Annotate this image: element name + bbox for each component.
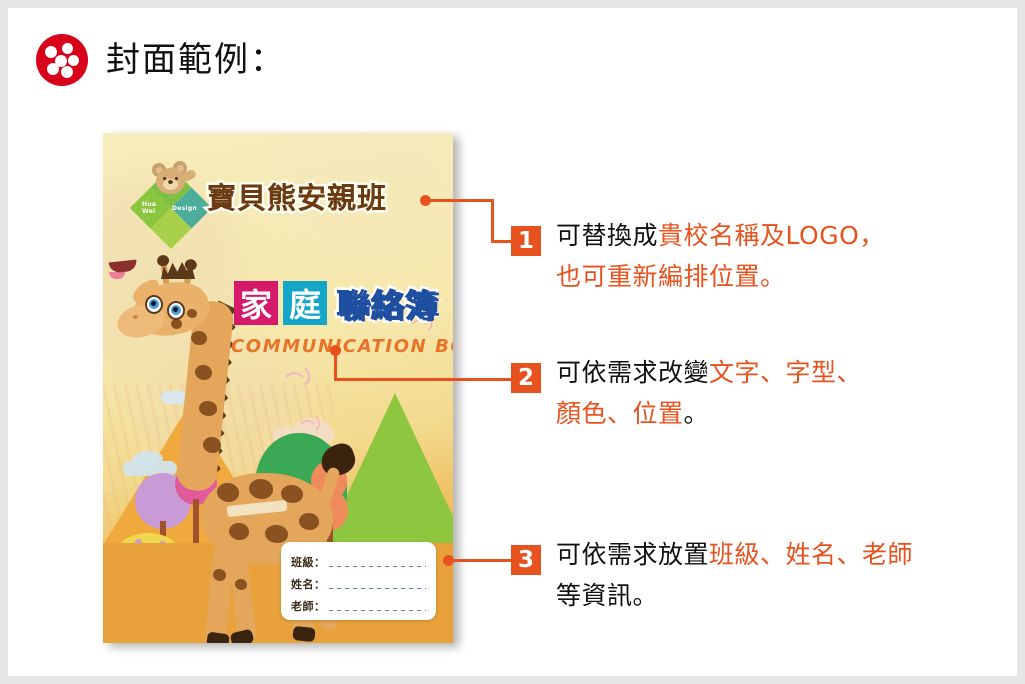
callout-3-line-1: 可依需求放置班級、姓名、老師 [556,534,913,575]
callout-number-1: 1 [511,226,541,256]
callout-2-line-2: 顏色、位置。 [556,393,862,434]
leader-line-2a [334,350,337,381]
leader-line-3 [449,559,516,562]
cover-subtitle: COMMUNICATION BOOK [231,336,453,357]
callout-2-line2-black: 。 [684,399,710,428]
callout-text-1: 可替換成貴校名稱及LOGO， 也可重新編排位置。 [556,215,885,297]
callout-3-line1-black: 可依需求放置 [556,540,709,569]
callout-1-line1-black: 可替換成 [556,221,658,250]
info-line-name [329,588,427,589]
leader-line-1b [491,199,494,243]
info-row-class: 班級： [291,548,426,570]
cover-brand-logo: Hua Wei Design [135,161,209,235]
page-header: 封面範例： [36,34,286,86]
info-row-name: 姓名： [291,570,426,592]
callout-number-2: 2 [511,363,541,393]
cover-info-box: 班級： 姓名： 老師： [281,542,436,620]
book-cover-preview: Hua Wei Design 寶貝熊安親班 寶貝熊安親班 家 庭 聯絡簿 聯絡簿… [103,133,453,643]
title-plain: 聯絡簿 [339,280,441,328]
callout-3-line2-black: 等資訊。 [556,581,658,610]
callout-1-line-2: 也可重新編排位置。 [556,256,885,297]
logo-text-left: Hua Wei [142,201,156,215]
teddy-bear-icon [151,161,197,201]
title-char-box-1: 家 [234,281,278,325]
info-line-class [329,566,427,567]
title-char-box-2: 庭 [283,281,327,325]
info-line-teacher [329,610,427,611]
leader-line-2b [334,378,516,381]
callout-1-line2-orange: 也可重新編排位置。 [556,262,786,291]
callout-3-line-2: 等資訊。 [556,575,913,616]
callout-3-line1-orange: 班級、姓名、老師 [709,540,913,569]
callout-1-line-1: 可替換成貴校名稱及LOGO， [556,215,885,256]
callout-text-2: 可依需求改變文字、字型、 顏色、位置。 [556,352,862,434]
leader-line-1a [428,199,494,202]
info-row-teacher: 老師： [291,592,426,614]
callout-1-line1-orange: 貴校名稱及LOGO， [658,221,885,250]
six-dot-circle-logo-icon [36,34,88,86]
callout-2-line1-black: 可依需求改變 [556,358,709,387]
page-canvas: 封面範例： [8,8,1017,676]
logo-text-right: Design [172,205,197,212]
callout-2-line1-orange: 文字、字型、 [709,358,862,387]
callout-number-3: 3 [511,545,541,575]
page-title: 封面範例： [106,43,286,77]
callout-2-line-1: 可依需求改變文字、字型、 [556,352,862,393]
callout-2-line2-orange: 顏色、位置 [556,399,684,428]
info-label-class: 班級： [291,554,326,570]
callout-text-3: 可依需求放置班級、姓名、老師 等資訊。 [556,534,913,616]
info-label-name: 姓名： [291,576,326,592]
cover-school-name: 寶貝熊安親班 [207,175,387,217]
info-label-teacher: 老師： [291,598,326,614]
